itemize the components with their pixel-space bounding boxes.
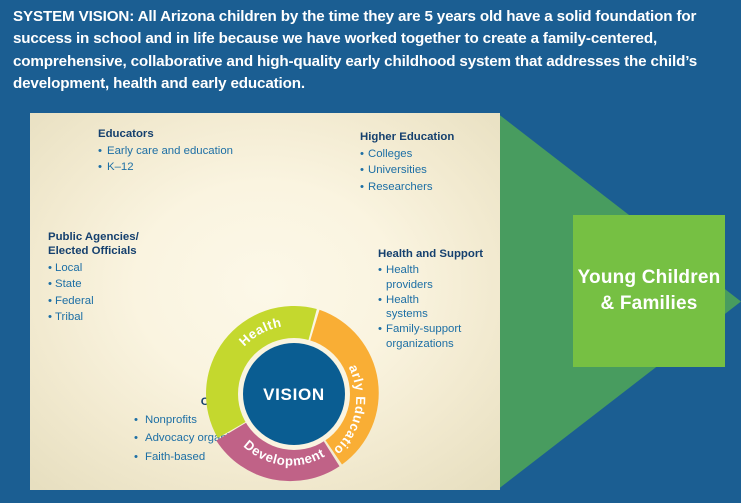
young-children-families-box: Young Children & Families: [573, 215, 725, 367]
young-children-families-label: Young Children & Families: [573, 265, 725, 316]
group-health-support-list: Health providers Health systems Family-s…: [378, 263, 503, 352]
list-item: Local: [48, 260, 188, 277]
group-higher-education-heading: Higher Education: [360, 131, 510, 145]
group-health-support: Health and Support Health providers Heal…: [378, 248, 503, 352]
vision-statement-lead: SYSTEM VISION:: [13, 8, 134, 25]
infographic-poster: SYSTEM VISION: All Arizona children by t…: [0, 0, 741, 503]
list-item: State: [48, 276, 188, 293]
list-item: Federal: [48, 293, 188, 310]
system-components-card: Educators Early care and education K–12 …: [30, 113, 500, 490]
group-educators-heading: Educators: [98, 128, 288, 142]
group-public-agencies-heading: Public Agencies/ Elected Officials: [48, 231, 188, 259]
list-item: Health systems: [378, 293, 503, 323]
group-public-agencies: Public Agencies/ Elected Officials Local…: [48, 231, 188, 326]
vision-center-label: VISION: [263, 385, 325, 404]
group-health-support-heading: Health and Support: [378, 248, 503, 262]
list-item: Family-support organizations: [378, 322, 503, 352]
group-educators: Educators Early care and education K–12: [98, 128, 288, 176]
vision-donut-chart: Health Early Education Development VISIO…: [206, 306, 382, 482]
group-higher-education-list: Colleges Universities Researchers: [360, 146, 510, 196]
list-item: Colleges: [360, 146, 510, 163]
list-item: Early care and education: [98, 143, 288, 160]
group-educators-list: Early care and education K–12: [98, 143, 288, 176]
list-item: Researchers: [360, 179, 510, 196]
list-item: Universities: [360, 162, 510, 179]
group-higher-education: Higher Education Colleges Universities R…: [360, 131, 510, 196]
list-item: Health providers: [378, 263, 503, 293]
list-item: K–12: [98, 159, 288, 176]
group-public-agencies-list: Local State Federal Tribal: [48, 260, 188, 326]
list-item: Tribal: [48, 309, 188, 326]
vision-statement: SYSTEM VISION: All Arizona children by t…: [13, 6, 729, 95]
